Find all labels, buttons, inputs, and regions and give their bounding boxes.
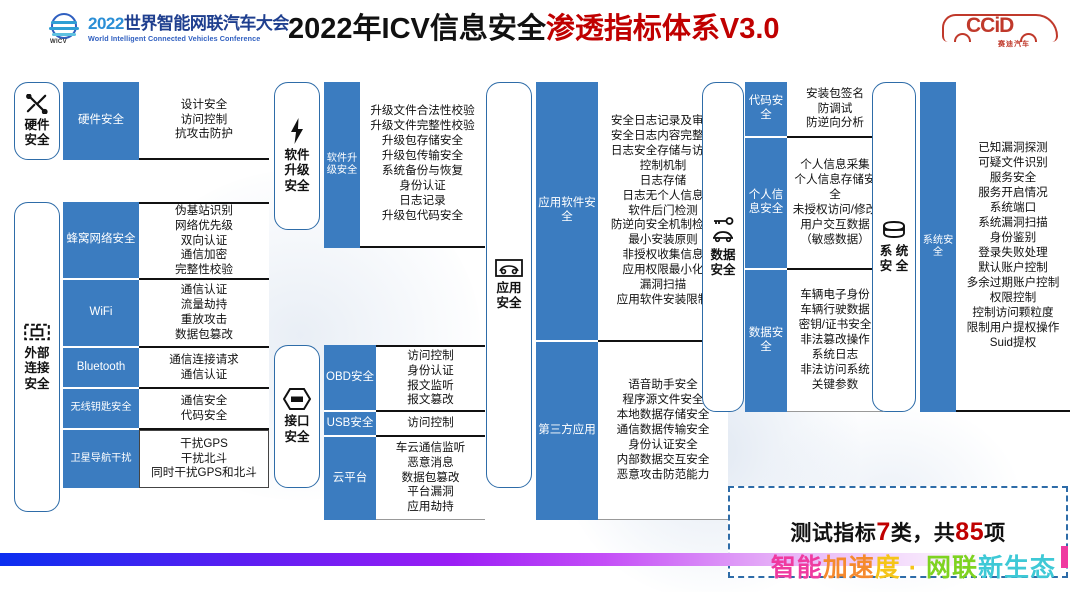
ccid-subtitle: 赛迪汽车 [998, 39, 1030, 49]
slide-header: WICV 2022世界智能网联汽车大会 World Intelligent Co… [0, 0, 1080, 58]
item-list-code-security: 安装包签名 防调试 防逆向分析 [787, 82, 883, 138]
summary-mid: 类，共 [891, 517, 956, 547]
category-pill-hardware[interactable]: 硬件 安全 [14, 82, 60, 160]
network-node-icon [24, 322, 50, 342]
group-label-hardware-security[interactable]: 硬件安全 [63, 82, 139, 160]
category-pill-application[interactable]: 应用 安全 [486, 82, 532, 488]
category-pill-data[interactable]: 数据 安全 [702, 82, 744, 412]
car-icon [495, 259, 523, 277]
category-label-software-upgrade: 软件 升级 安全 [284, 148, 309, 194]
item-list-personal-info: 个人信息采集 个人信息存储安全 未授权访问/修改 用户交互数据（敏感数据） [787, 138, 883, 270]
group-label-software-upgrade[interactable]: 软件升级安全 [324, 82, 360, 248]
item-list-software-upgrade: 升级文件合法性校验 升级文件完整性校验 升级包存储安全 升级包传输安全 系统备份… [360, 82, 485, 248]
group-label-system-security[interactable]: 系统安全 [920, 82, 956, 412]
wicv-mark-icon: WICV [48, 12, 82, 46]
group-label-obd[interactable]: OBD安全 [324, 345, 376, 412]
item-list-system-security: 已知漏洞探测 可疑文件识别 服务安全 服务开启情况 系统端口 系统漏洞扫描 身份… [956, 82, 1070, 412]
item-list-cellular: 伪基站识别 网络优先级 双向认证 通信加密 完整性校验 [139, 202, 269, 280]
group-label-third-party-app[interactable]: 第三方应用 [536, 342, 598, 520]
group-label-code-security[interactable]: 代码安全 [745, 82, 787, 138]
item-list-hardware-security: 设计安全 访问控制 抗攻击防护 [139, 82, 269, 160]
category-label-application: 应用 安全 [496, 281, 521, 312]
ccid-letters: CCiD [966, 14, 1013, 38]
group-label-wifi[interactable]: WiFi [63, 280, 139, 348]
footer-pink-accent [1061, 546, 1068, 568]
item-list-usb: 访问控制 [376, 412, 485, 437]
item-list-bluetooth: 通信连接请求 通信认证 [139, 348, 269, 389]
category-label-data: 数据 安全 [710, 248, 735, 279]
summary-post: 项 [984, 517, 1006, 547]
category-pill-software-upgrade[interactable]: 软件 升级 安全 [274, 82, 320, 230]
chip-stack-icon [881, 220, 907, 240]
item-list-gnss-jamming: 干扰GPS 干扰北斗 同时干扰GPS和北斗 [139, 430, 269, 488]
item-list-obd: 访问控制 身份认证 报文监听 报文篡改 [376, 345, 485, 412]
category-pill-system[interactable]: 系 统 安 全 [872, 82, 916, 412]
hexagon-port-icon [283, 388, 311, 410]
indicator-matrix: 硬件 安全 硬件安全 设计安全 访问控制 抗攻击防护 外部 连接 安全 [0, 62, 1080, 524]
bolt-icon [289, 118, 305, 144]
group-label-gnss-jamming[interactable]: 卫星导航干扰 [63, 430, 139, 488]
group-label-app-software[interactable]: 应用软件安全 [536, 82, 598, 342]
summary-pre: 测试指标 [790, 517, 876, 547]
category-pill-external-connection[interactable]: 外部 连接 安全 [14, 202, 60, 512]
category-pill-interface[interactable]: 接口 安全 [274, 345, 320, 488]
wicv-logo-cn: 2022世界智能网联汽车大会 [88, 15, 289, 33]
group-label-wireless-key[interactable]: 无线钥匙安全 [63, 389, 139, 430]
group-label-cellular[interactable]: 蜂窝网络安全 [63, 202, 139, 280]
tools-icon [26, 94, 48, 114]
wicv-logo-en: World Intelligent Connected Vehicles Con… [88, 34, 289, 43]
slide-root: WICV 2022世界智能网联汽车大会 World Intelligent Co… [0, 0, 1080, 592]
summary-count-items: 85 [955, 518, 984, 547]
group-label-personal-info[interactable]: 个人信息安全 [745, 138, 787, 270]
key-car-icon [710, 216, 736, 244]
footer-slogan: 智能加速度 · 网联新生态 [771, 548, 1056, 584]
group-label-bluetooth[interactable]: Bluetooth [63, 348, 139, 389]
summary-count-types: 7 [876, 518, 890, 547]
wicv-logo: WICV 2022世界智能网联汽车大会 World Intelligent Co… [48, 10, 283, 48]
category-label-external-connection: 外部 连接 安全 [24, 346, 49, 392]
item-list-cloud-platform: 车云通信监听 恶意消息 数据包篡改 平台漏洞 应用劫持 [376, 437, 485, 520]
category-label-hardware: 硬件 安全 [24, 118, 49, 149]
ccid-logo: CCiD 赛迪汽车 [942, 8, 1058, 52]
category-label-interface: 接口 安全 [284, 414, 309, 445]
group-label-data-security[interactable]: 数据安全 [745, 270, 787, 412]
item-list-wireless-key: 通信安全 代码安全 [139, 389, 269, 430]
group-label-cloud-platform[interactable]: 云平台 [324, 437, 376, 520]
wicv-mark-label: WICV [50, 39, 67, 45]
category-label-system: 系 统 安 全 [880, 244, 908, 275]
item-list-data-security: 车辆电子身份 车辆行驶数据 密钥/证书安全 非法篡改操作 系统日志 非法访问系统… [787, 270, 883, 412]
item-list-wifi: 通信认证 流量劫持 重放攻击 数据包篡改 [139, 280, 269, 348]
group-label-usb[interactable]: USB安全 [324, 412, 376, 437]
page-title: 2022年ICV信息安全渗透指标体系V3.0 [288, 9, 828, 49]
